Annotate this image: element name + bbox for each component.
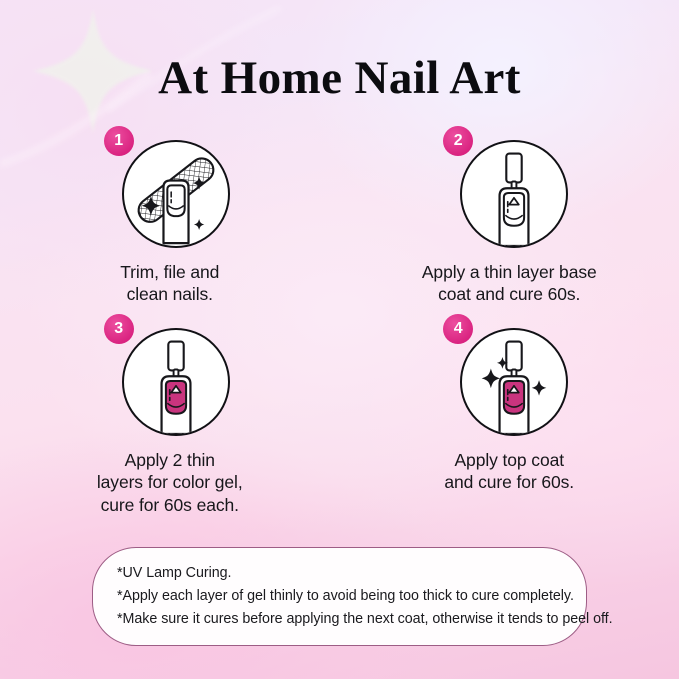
- step-item-2[interactable]: 2: [340, 140, 679, 306]
- step-circle-4: [460, 328, 568, 436]
- note-line-3: *Make sure it cures before applying the …: [117, 608, 564, 631]
- step-caption-3: Apply 2 thin layers for color gel, cure …: [97, 449, 243, 516]
- color-gel-brush-icon: [124, 330, 228, 434]
- notes-box: *UV Lamp Curing. *Apply each layer of ge…: [92, 547, 587, 646]
- page-title: At Home Nail Art: [0, 55, 679, 102]
- note-line-1: *UV Lamp Curing.: [117, 562, 564, 585]
- step-badge-1: 1: [104, 126, 134, 156]
- step-item-1[interactable]: 1: [0, 140, 340, 306]
- steps-row-1: 1: [0, 140, 679, 306]
- step-badge-4: 4: [443, 314, 473, 344]
- steps-container: 1: [0, 140, 679, 516]
- step-caption-4: Apply top coat and cure for 60s.: [444, 449, 574, 494]
- step-caption-2: Apply a thin layer base coat and cure 60…: [422, 261, 597, 306]
- step-badge-3: 3: [104, 314, 134, 344]
- step-circle-1: [122, 140, 230, 248]
- step-illustration-wrap-1: [122, 140, 230, 248]
- step-caption-1: Trim, file and clean nails.: [120, 261, 219, 306]
- step-illustration-wrap-4: [460, 328, 568, 436]
- steps-row-2: 3: [0, 328, 679, 516]
- step-illustration-wrap-3: [122, 328, 230, 436]
- base-coat-brush-icon: [462, 142, 566, 246]
- note-line-2: *Apply each layer of gel thinly to avoid…: [117, 585, 564, 608]
- nail-file-icon: [124, 142, 228, 246]
- nail-art-infographic: At Home Nail Art 1: [0, 0, 679, 679]
- step-circle-2: [460, 140, 568, 248]
- step-item-3[interactable]: 3: [0, 328, 340, 516]
- step-circle-3: [122, 328, 230, 436]
- step-illustration-wrap-2: [460, 140, 568, 248]
- step-item-4[interactable]: 4: [340, 328, 679, 516]
- top-coat-brush-icon: [462, 330, 566, 434]
